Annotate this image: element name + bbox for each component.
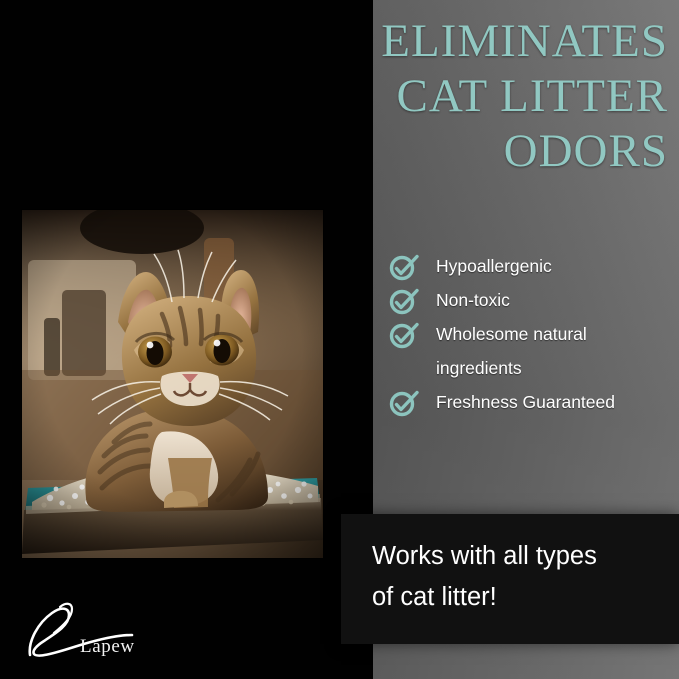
check-circle-icon-glyph xyxy=(388,285,420,315)
callout-line-1: Works with all types xyxy=(372,536,672,577)
check-circle-icon xyxy=(386,317,436,351)
list-item: Wholesome natural xyxy=(386,317,671,351)
brand-logo: Lapew xyxy=(22,597,172,661)
list-item: Hypoallergenic xyxy=(386,249,671,283)
callout-line-2: of cat litter! xyxy=(372,577,672,618)
check-circle-icon-glyph xyxy=(388,251,420,281)
feature-label: Non-toxic xyxy=(436,283,510,317)
callout-text: Works with all types of cat litter! xyxy=(372,536,672,618)
kitten-in-litter-box-illustration xyxy=(22,210,323,558)
headline-line-2: CAT LITTER xyxy=(238,69,668,124)
feature-list: Hypoallergenic Non-toxic Wholesome natur… xyxy=(386,249,671,419)
brand-wordmark: Lapew xyxy=(80,637,135,656)
feature-label: Hypoallergenic xyxy=(436,249,552,283)
check-circle-icon-glyph xyxy=(388,387,420,417)
headline-line-3: ODORS xyxy=(238,124,668,179)
product-photo xyxy=(22,210,323,558)
list-indent-spacer xyxy=(386,351,436,381)
callout-banner: Works with all types of cat litter! xyxy=(341,514,679,644)
headline-line-1: ELIMINATES xyxy=(238,14,668,69)
list-item: Freshness Guaranteed xyxy=(386,385,671,419)
check-circle-icon-glyph xyxy=(388,319,420,349)
feature-label: Wholesome natural xyxy=(436,317,587,351)
list-item-continuation: ingredients xyxy=(386,351,671,385)
check-circle-icon xyxy=(386,249,436,283)
advertisement-canvas: ELIMINATES CAT LITTER ODORS xyxy=(0,0,679,679)
check-circle-icon xyxy=(386,385,436,419)
page-title: ELIMINATES CAT LITTER ODORS xyxy=(238,14,668,179)
list-item: Non-toxic xyxy=(386,283,671,317)
feature-label-wrap: ingredients xyxy=(436,351,522,385)
check-circle-icon xyxy=(386,283,436,317)
feature-label: Freshness Guaranteed xyxy=(436,385,615,419)
